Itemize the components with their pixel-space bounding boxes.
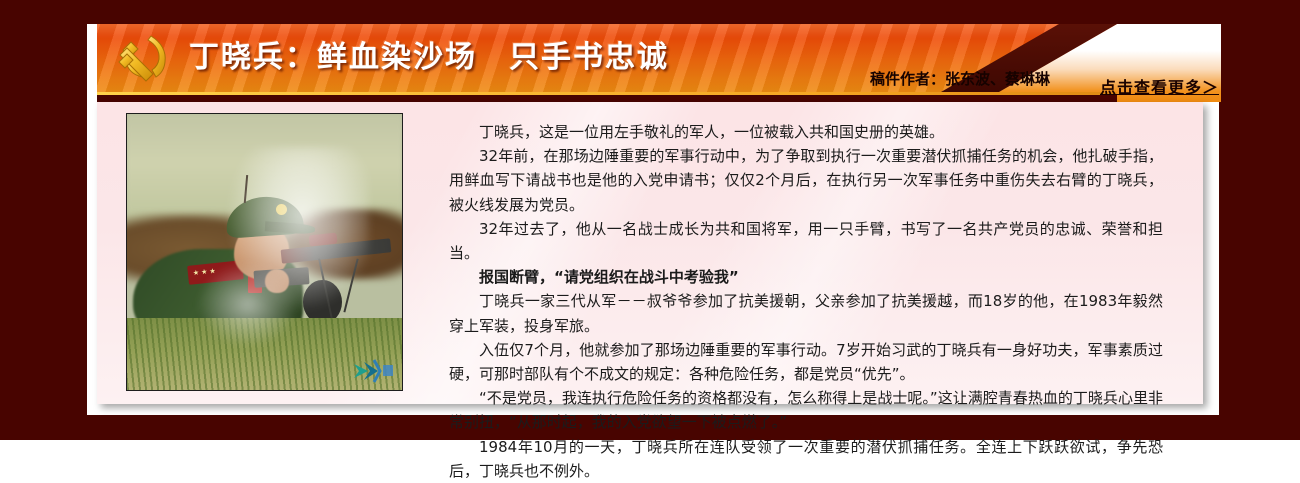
article-paragraph: 32年前，在那场边陲重要的军事行动中，为了争取到执行一次重要潜伏抓捕任务的机会，… xyxy=(449,144,1163,217)
hammer-sickle-party-emblem-icon xyxy=(107,28,179,90)
photo-gun-smoke-secondary xyxy=(193,258,303,352)
chevron-arrow-watermark-icon xyxy=(350,358,396,384)
frame-border-right xyxy=(1219,0,1300,440)
article-paragraph: 1984年10月的一天，丁晓兵所在连队受领了一次重要的潜伏抓捕任务。全连上下跃跃… xyxy=(449,435,1163,483)
frame-border-top xyxy=(0,0,1300,24)
article-paragraph: 入伍仅7个月，他就参加了那场边陲重要的军事行动。7岁开始习武的丁晓兵有一身好功夫… xyxy=(449,338,1163,386)
article-paragraph: 丁晓兵一家三代从军－－叔爷爷参加了抗美援朝，父亲参加了抗美援越，而18岁的他，在… xyxy=(449,289,1163,337)
article-paragraph: 丁晓兵，这是一位用左手敬礼的军人，一位被载入共和国史册的英雄。 xyxy=(449,120,1163,144)
page-title: 丁晓兵：鲜血染沙场 只手书忠诚 xyxy=(189,32,669,84)
banner-dark-rule xyxy=(97,95,1117,102)
header-banner: 丁晓兵：鲜血染沙场 只手书忠诚 稿件作者：张东波、蔡琳琳 点击查看更多＞ xyxy=(97,24,1221,102)
article-paragraph: 32年过去了，他从一名战士成长为共和国将军，用一只手臂，书写了一名共产党员的忠诚… xyxy=(449,217,1163,265)
view-more-link[interactable]: 点击查看更多＞ xyxy=(1100,74,1219,98)
article-paragraph: 报国断臂，“请党组织在战斗中考验我” xyxy=(449,265,1163,289)
content-panel: ★★★ xyxy=(97,102,1203,404)
page-root: 丁晓兵：鲜血染沙场 只手书忠诚 稿件作者：张东波、蔡琳琳 点击查看更多＞ ★★★ xyxy=(0,0,1300,440)
article-author: 稿件作者：张东波、蔡琳琳 xyxy=(870,68,1050,89)
frame-border-left xyxy=(0,0,87,440)
article-photo: ★★★ xyxy=(126,113,403,391)
article-body: 丁晓兵，这是一位用左手敬礼的军人，一位被载入共和国史册的英雄。32年前，在那场边… xyxy=(449,120,1163,483)
article-paragraph: “不是党员，我连执行危险任务的资格都没有，怎么称得上是战士呢。”这让满腔青春热血… xyxy=(449,386,1163,434)
